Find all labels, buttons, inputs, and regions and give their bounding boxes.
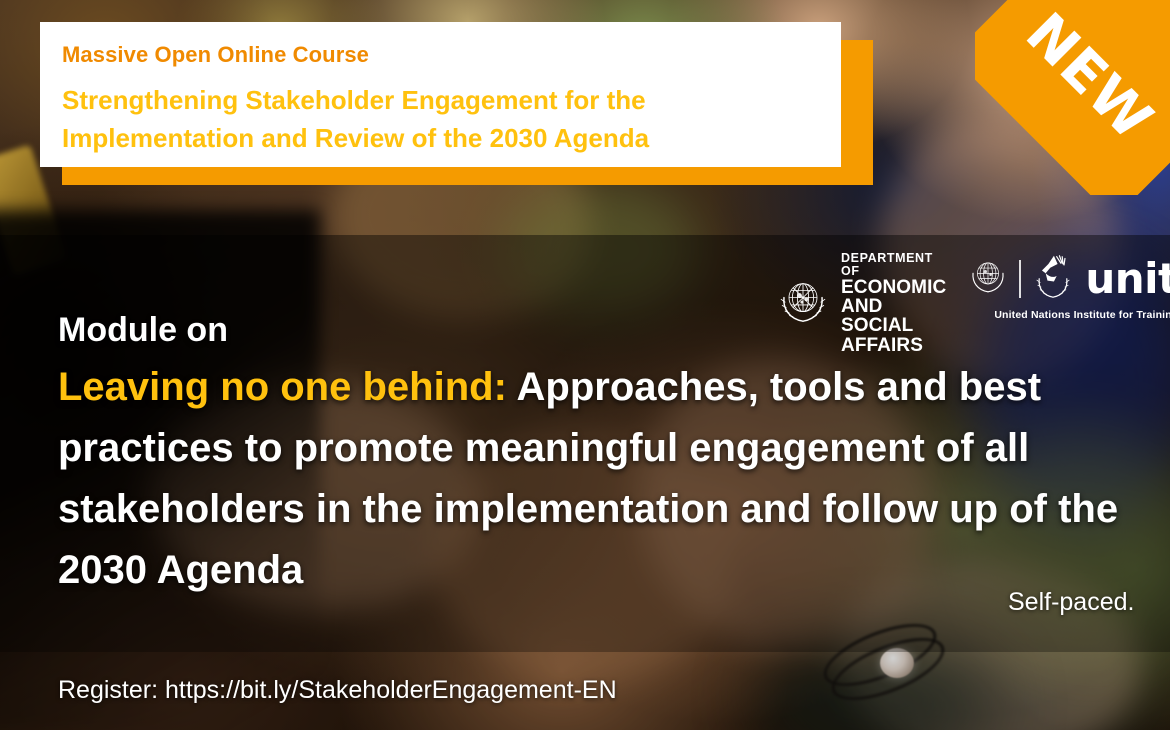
un-emblem-icon <box>966 254 1010 303</box>
self-paced-note: Self-paced. <box>1008 588 1134 617</box>
unitar-wordmark: unitar <box>1085 260 1170 298</box>
headline-body: Leaving no one behind: Approaches, tools… <box>58 357 1148 600</box>
course-kicker: Massive Open Online Course <box>62 42 369 68</box>
unitar-dove-icon <box>1030 252 1076 305</box>
unitar-logo-row: unitar <box>966 252 1170 305</box>
course-title: Strengthening Stakeholder Engagement for… <box>62 82 822 157</box>
headline-highlight: Leaving no one behind: <box>58 365 507 409</box>
course-promo-poster: NEW Massive Open Online Course Strengthe… <box>0 0 1170 730</box>
desa-line-1: DEPARTMENT OF <box>841 252 946 278</box>
headline-eyebrow: Module on <box>58 310 1148 350</box>
register-link[interactable]: Register: https://bit.ly/StakeholderEnga… <box>58 676 617 705</box>
new-corner-ribbon: NEW <box>975 0 1170 195</box>
logo-divider <box>1019 260 1021 298</box>
module-headline: Module on Leaving no one behind: Approac… <box>58 310 1148 600</box>
header-white-card: Massive Open Online Course Strengthening… <box>40 22 841 167</box>
